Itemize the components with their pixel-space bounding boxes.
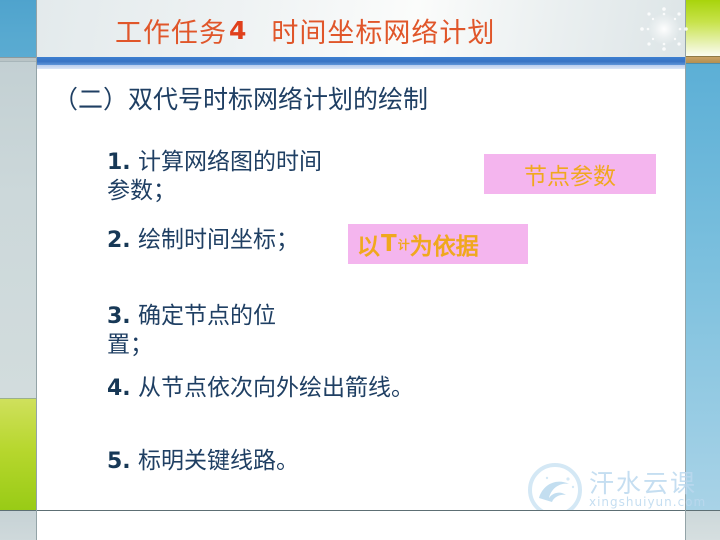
list-item-index: 2.	[107, 228, 131, 253]
callout-prefix: 以	[357, 227, 380, 261]
header-rule	[37, 57, 685, 65]
list-item-index: 3.	[107, 304, 131, 329]
callout-basis-t-plan: 以 T计 为依据	[348, 224, 528, 264]
list-item-label: 从节点依次向外绘出箭线。	[138, 375, 414, 401]
footer-bar	[37, 510, 685, 540]
list-item-label: 绘制时间坐标；	[138, 227, 299, 253]
title-main: 时间坐标网络计划	[271, 11, 495, 50]
page-title: 工作任务 4 时间坐标网络计划	[37, 5, 685, 55]
right-decorative-column	[685, 0, 720, 540]
list-item-index: 4.	[107, 376, 131, 401]
title-prefix: 工作任务	[115, 11, 227, 50]
left-decorative-column	[0, 0, 37, 540]
callout-suffix: 为依据	[410, 227, 479, 261]
list-item-label: 计算网络图的时间参数；	[107, 149, 322, 204]
callout-node-parameters: 节点参数	[484, 154, 656, 194]
right-green-block	[685, 0, 720, 56]
watermark-brand: 汗水云课	[589, 464, 697, 500]
section-subtitle: （二）双代号时标网络计划的绘制	[53, 80, 428, 116]
left-green-block	[0, 398, 37, 511]
slide-canvas: 工作任务 4 时间坐标网络计划 （二）双代号时标网络计划的绘制 1. 计算网络图…	[0, 0, 720, 540]
list-item-label: 确定节点的位置；	[107, 303, 276, 358]
right-blue-block	[685, 63, 720, 511]
callout-label: 节点参数	[524, 157, 616, 191]
content-area: （二）双代号时标网络计划的绘制 1. 计算网络图的时间参数； 2. 绘制时间坐标…	[37, 69, 685, 510]
left-blue-block	[0, 0, 37, 57]
list-item: 1. 计算网络图的时间参数；	[107, 148, 332, 207]
list-item: 4. 从节点依次向外绘出箭线。	[107, 374, 437, 403]
callout-subscript: 计	[398, 236, 410, 253]
callout-symbol: T	[381, 231, 397, 257]
list-item: 3. 确定节点的位置；	[107, 302, 307, 361]
title-number: 4	[229, 16, 247, 45]
list-item: 5. 标明关键线路。	[107, 447, 387, 476]
right-footer-block	[685, 510, 720, 540]
list-item-index: 5.	[107, 449, 131, 474]
right-vertical-rule	[685, 0, 686, 540]
left-grey-block	[0, 61, 37, 399]
list-item-label: 标明关键线路。	[138, 448, 299, 474]
list-item-index: 1.	[107, 150, 131, 175]
left-footer-block	[0, 510, 37, 540]
